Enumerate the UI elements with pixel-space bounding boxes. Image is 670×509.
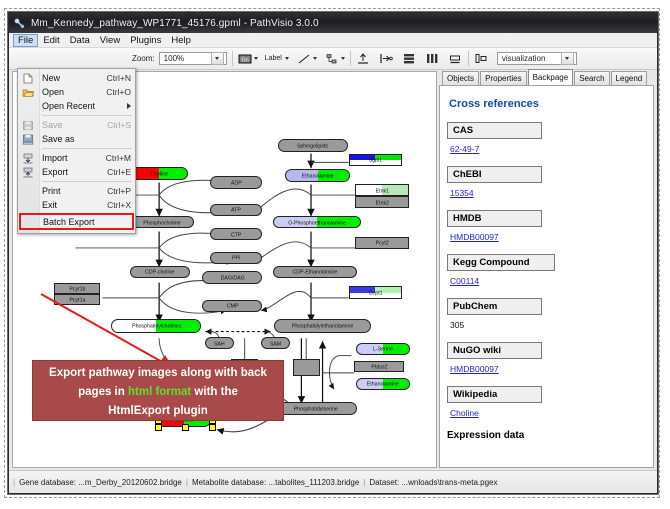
xref-value: 305 xyxy=(450,320,464,330)
metabolite-node[interactable]: Ethanolamine xyxy=(285,169,350,182)
screenshot-root: Mm_Kennedy_pathway_WP1771_45176.gpml - P… xyxy=(0,0,670,509)
xref-label: HMDB xyxy=(447,210,542,227)
annotation-line2-post: with the xyxy=(191,386,238,398)
line-icon[interactable] xyxy=(297,51,312,66)
align-top-icon[interactable] xyxy=(356,51,371,66)
node-label: Sgpl1 xyxy=(369,157,382,163)
metabolite-node[interactable]: ADP xyxy=(210,176,262,188)
metabolite-node[interactable]: CTP xyxy=(210,228,262,240)
xref-label: CAS xyxy=(447,122,542,139)
gene-product-node[interactable]: Pcyt1b xyxy=(54,283,100,294)
xref-cas: CAS 62-49-7 xyxy=(447,122,646,157)
menu-item-accel: Ctrl+N xyxy=(107,73,131,83)
node-label: Sphingolipids xyxy=(297,142,328,148)
interaction-icon[interactable] xyxy=(325,51,340,66)
node-label: ATP xyxy=(231,207,241,213)
node-label: Phosphocholine xyxy=(143,219,180,225)
xref-wikipedia: Wikipedia Choline xyxy=(447,386,646,421)
node-label: Ethanolamine xyxy=(367,381,399,387)
status-gene-database: Gene database: ...m_Derby_20120602.bridg… xyxy=(19,478,182,487)
menu-item-label: Export xyxy=(42,167,107,177)
metabolite-node[interactable]: Sphingolipids xyxy=(278,139,347,152)
menu-separator xyxy=(42,148,132,149)
xref-kegg-compound: Kegg Compound C00114 xyxy=(447,254,646,289)
node-label: PPi xyxy=(232,255,240,261)
menu-file[interactable]: File xyxy=(13,34,38,47)
menu-item-label: Open Recent xyxy=(42,101,127,111)
open-folder-icon xyxy=(22,87,34,98)
gene-product-node[interactable] xyxy=(293,359,320,376)
cross-references-heading: Cross references xyxy=(449,98,646,110)
node-label: Ethanolamine xyxy=(302,172,334,178)
export-icon xyxy=(22,167,34,178)
backpage-content: Cross references CAS 62-49-7 ChEBI 15354… xyxy=(439,85,654,468)
menu-item-accel: Ctrl+P xyxy=(107,186,131,196)
menu-item-accel: Ctrl+O xyxy=(106,87,131,97)
metabolite-node[interactable]: ATP xyxy=(210,204,262,216)
xref-link[interactable]: HMDB00097 xyxy=(450,232,499,242)
metabolite-node[interactable]: SAH xyxy=(205,337,234,349)
title-bar: Mm_Kennedy_pathway_WP1771_45176.gpml - P… xyxy=(9,13,657,33)
gene-product-node[interactable]: Etnk2 xyxy=(355,196,409,208)
tab-properties[interactable]: Properties xyxy=(480,71,526,85)
metabolite-node[interactable]: SAM xyxy=(261,337,290,349)
metabolite-node[interactable]: DAG/DAG xyxy=(202,271,262,283)
xref-label: PubChem xyxy=(447,298,542,315)
metabolite-node[interactable]: Phosphocholine xyxy=(130,216,193,228)
tab-legend[interactable]: Legend xyxy=(611,71,648,85)
main-toolbar: Zoom: 100% Gn Label xyxy=(9,48,657,70)
chevron-down-icon[interactable] xyxy=(254,57,258,60)
xref-link[interactable]: 62-49-7 xyxy=(450,144,479,154)
visualization-value: visualization xyxy=(502,54,561,63)
stack-horizontal-icon[interactable] xyxy=(402,51,417,66)
side-panel: Objects Properties Backpage Search Legen… xyxy=(439,71,654,468)
menu-item-exit[interactable]: Exit Ctrl+X xyxy=(18,198,135,212)
toolbar-separator xyxy=(468,51,469,66)
gene-product-node[interactable]: Ptdss2 xyxy=(354,361,404,372)
submenu-arrow-icon xyxy=(127,103,131,109)
gene-product-node[interactable]: Cept1 xyxy=(349,286,403,298)
chevron-down-icon[interactable] xyxy=(341,57,345,60)
menu-separator xyxy=(42,181,132,182)
chevron-down-icon[interactable] xyxy=(285,57,289,60)
label-tool-text: Label xyxy=(265,55,282,62)
node-label: CMP xyxy=(226,303,238,309)
xref-label: Kegg Compound xyxy=(447,254,555,271)
menu-edit[interactable]: Edit xyxy=(38,34,64,47)
menu-item-import[interactable]: Import Ctrl+M xyxy=(18,151,135,165)
metabolite-node[interactable]: O-Phosphoethanolamine xyxy=(273,216,361,228)
node-label: Etnk1 xyxy=(375,187,388,193)
metabolite-node[interactable]: PPi xyxy=(210,252,262,264)
menu-item-open-recent[interactable]: Open Recent xyxy=(18,99,135,113)
menu-item-label: Print xyxy=(42,186,107,196)
annotation-line2-pre: pages in xyxy=(78,386,128,398)
gene-product-tool[interactable]: Gn xyxy=(238,51,258,66)
zoom-combo[interactable]: 100% xyxy=(159,52,227,65)
common-size-icon[interactable] xyxy=(448,51,463,66)
label-tool[interactable]: Label xyxy=(265,55,289,62)
menu-item-label: Import xyxy=(42,153,106,163)
metabolite-node[interactable]: L-Serine xyxy=(356,343,410,355)
toolbar-separator xyxy=(350,51,351,66)
node-label: Choline xyxy=(150,170,168,176)
new-document-icon xyxy=(22,73,34,84)
node-label: Phosphatidylcholines xyxy=(132,323,181,329)
menu-item-label: Save xyxy=(42,120,107,130)
metabolite-node[interactable]: CDP-Ethanolamine xyxy=(273,266,358,278)
annotation-callout: Export pathway images along with back pa… xyxy=(32,360,284,421)
xref-label: Wikipedia xyxy=(447,386,542,403)
xref-hmdb: HMDB HMDB00097 xyxy=(447,210,646,245)
node-label: CTP xyxy=(231,231,241,237)
distribute-icon[interactable] xyxy=(425,51,440,66)
menu-item-new[interactable]: New Ctrl+N xyxy=(18,71,135,85)
status-divider: | xyxy=(13,478,15,487)
tab-backpage[interactable]: Backpage xyxy=(528,69,574,85)
tab-search[interactable]: Search xyxy=(574,71,609,85)
visualization-combo[interactable]: visualization xyxy=(497,52,577,65)
svg-text:Gn: Gn xyxy=(242,57,249,63)
node-label: SAH xyxy=(214,340,225,346)
menu-item-open[interactable]: Open Ctrl+O xyxy=(18,85,135,99)
node-label: SAM xyxy=(270,340,281,346)
expression-data-heading: Expression data xyxy=(447,430,646,441)
menu-bar: File Edit Data View Plugins Help xyxy=(9,33,657,48)
annotation-line-2: pages in html format with the xyxy=(33,383,283,402)
menu-item-accel: Ctrl+X xyxy=(107,200,131,210)
status-metabolite-database: Metabolite database: ...tabolites_111203… xyxy=(192,478,359,487)
menu-item-label: Exit xyxy=(42,200,107,210)
xref-link[interactable]: HMDB00097 xyxy=(450,364,499,374)
menu-item-batch-export[interactable]: Batch Export xyxy=(19,213,134,230)
layer-icon[interactable] xyxy=(474,51,489,66)
selection-handle[interactable] xyxy=(155,424,162,431)
metabolite-node[interactable]: Phosphatidylcholines xyxy=(111,319,201,332)
node-label: Pcyt1b xyxy=(69,285,85,291)
menu-item-label: Batch Export xyxy=(43,217,128,227)
menu-item-label: Open xyxy=(42,87,106,97)
gene-product-node[interactable]: Pcyt1a xyxy=(54,294,100,305)
menu-item-accel: Ctrl+E xyxy=(107,167,131,177)
menu-view[interactable]: View xyxy=(95,34,125,47)
save-disk-icon xyxy=(22,120,34,131)
node-label: CDP-Ethanolamine xyxy=(292,269,337,275)
gene-product-node[interactable]: Etnk1 xyxy=(355,184,409,196)
selection-handle[interactable] xyxy=(182,424,189,431)
metabolite-node[interactable]: CDP-choline xyxy=(130,266,190,278)
zoom-value: 100% xyxy=(164,54,211,63)
window-title: Mm_Kennedy_pathway_WP1771_45176.gpml - P… xyxy=(31,18,319,29)
metabolite-node[interactable]: Ethanolamine xyxy=(356,378,410,390)
node-label: ADP xyxy=(231,179,242,185)
menu-item-save: Save Ctrl+S xyxy=(18,118,135,132)
pathvisio-app-icon xyxy=(14,18,25,29)
tab-objects[interactable]: Objects xyxy=(442,71,479,85)
gene-product-node[interactable]: Sgpl1 xyxy=(349,154,403,166)
side-panel-tabs: Objects Properties Backpage Search Legen… xyxy=(439,71,654,85)
xref-label: NuGO wiki xyxy=(447,342,542,359)
menu-item-save-as[interactable]: Save as xyxy=(18,132,135,146)
selection-handle[interactable] xyxy=(209,424,216,431)
chevron-down-icon[interactable] xyxy=(211,52,224,65)
import-icon xyxy=(22,153,34,164)
gene-product-node[interactable]: Pcyt2 xyxy=(355,237,409,249)
status-dataset: Dataset: ...wnloads\trans-meta.pgex xyxy=(369,478,497,487)
menu-item-print[interactable]: Print Ctrl+P xyxy=(18,184,135,198)
annotation-line-3: HtmlExport plugin xyxy=(33,402,283,421)
node-label: CDP-choline xyxy=(145,269,174,275)
metabolite-node[interactable]: CMP xyxy=(202,300,262,312)
menu-item-export[interactable]: Export Ctrl+E xyxy=(18,165,135,179)
menu-separator xyxy=(42,115,132,116)
pathvisio-window: Mm_Kennedy_pathway_WP1771_45176.gpml - P… xyxy=(8,12,658,494)
node-label: Phosphatidylserine xyxy=(294,406,338,412)
node-label: Etnk2 xyxy=(375,199,388,205)
gene-product-icon[interactable]: Gn xyxy=(238,51,253,66)
annotation-highlight: html format xyxy=(128,386,191,398)
status-bar: | Gene database: ...m_Derby_20120602.bri… xyxy=(9,470,657,493)
menu-data[interactable]: Data xyxy=(65,34,95,47)
menu-item-accel: Ctrl+S xyxy=(107,120,131,130)
xref-link[interactable]: 15354 xyxy=(450,188,474,198)
node-label: Cept1 xyxy=(368,289,382,295)
save-as-icon xyxy=(22,134,34,145)
node-label: L-Serine xyxy=(373,346,393,352)
xref-link[interactable]: Choline xyxy=(450,408,479,418)
zoom-label: Zoom: xyxy=(132,54,155,63)
status-divider: | xyxy=(186,478,188,487)
metabolite-node[interactable]: Phosphatidylethanolamine xyxy=(274,319,370,332)
node-label: DAG/DAG xyxy=(220,274,244,280)
menu-item-label: Save as xyxy=(42,134,131,144)
menu-help[interactable]: Help xyxy=(166,34,196,47)
xref-label: ChEBI xyxy=(447,166,542,183)
metabolite-node[interactable]: Phosphatidylserine xyxy=(274,402,357,415)
menu-item-accel: Ctrl+M xyxy=(106,153,131,163)
annotation-line-1: Export pathway images along with back xyxy=(33,364,283,383)
status-divider: | xyxy=(363,478,365,487)
node-label: Phosphatidylethanolamine xyxy=(292,323,353,329)
xref-chebi: ChEBI 15354 xyxy=(447,166,646,201)
metabolite-node[interactable]: Choline xyxy=(130,167,188,180)
node-label: Ptdss2 xyxy=(371,363,387,369)
menu-plugins[interactable]: Plugins xyxy=(125,34,166,47)
chevron-down-icon[interactable] xyxy=(313,57,317,60)
xref-pubchem: PubChem 305 xyxy=(447,298,646,333)
line-tool[interactable] xyxy=(297,51,317,66)
file-menu-dropdown[interactable]: New Ctrl+N Open Ctrl+O Open Recent Save xyxy=(17,68,136,234)
menu-item-label: New xyxy=(42,73,107,83)
xref-link[interactable]: C00114 xyxy=(450,276,479,286)
align-left-icon[interactable] xyxy=(379,51,394,66)
toolbar-separator xyxy=(232,51,233,66)
interaction-tool[interactable] xyxy=(325,51,345,66)
xref-nugo-wiki: NuGO wiki HMDB00097 xyxy=(447,342,646,377)
node-label: Pcyt2 xyxy=(376,240,389,246)
chevron-down-icon[interactable] xyxy=(561,52,574,65)
node-label: O-Phosphoethanolamine xyxy=(288,219,346,225)
node-label: Pcyt1a xyxy=(69,296,85,302)
